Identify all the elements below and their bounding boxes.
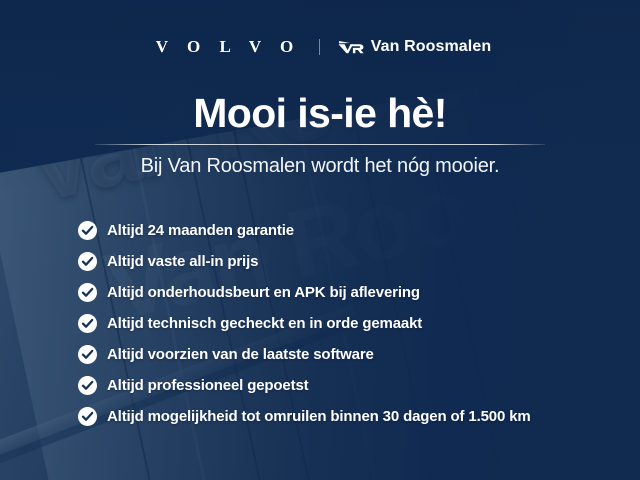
list-item: Altijd mogelijkheid tot omruilen binnen …: [78, 401, 618, 432]
page-subtitle: Bij Van Roosmalen wordt het nóg mooier.: [0, 155, 640, 178]
usp-label: Altijd professioneel gepoetst: [107, 378, 309, 393]
check-circle-icon: [78, 407, 97, 426]
brand-separator: [319, 39, 320, 55]
check-circle-icon: [78, 221, 97, 240]
usp-label: Altijd onderhoudsbeurt en APK bij afleve…: [107, 285, 420, 300]
usp-list: Altijd 24 maanden garantie Altijd vaste …: [78, 215, 618, 432]
usp-label: Altijd 24 maanden garantie: [107, 223, 294, 238]
promo-banner: Van Roosmalen Van Roosmalen V O L V O Va…: [0, 0, 640, 480]
list-item: Altijd 24 maanden garantie: [78, 215, 618, 246]
dealer-logo: Van Roosmalen: [338, 39, 491, 55]
divider-rule: [95, 144, 545, 145]
list-item: Altijd voorzien van de laatste software: [78, 339, 618, 370]
check-circle-icon: [78, 376, 97, 395]
check-circle-icon: [78, 314, 97, 333]
list-item: Altijd professioneel gepoetst: [78, 370, 618, 401]
list-item: Altijd technisch gecheckt en in orde gem…: [78, 308, 618, 339]
check-circle-icon: [78, 345, 97, 364]
list-item: Altijd vaste all-in prijs: [78, 246, 618, 277]
list-item: Altijd onderhoudsbeurt en APK bij afleve…: [78, 277, 618, 308]
usp-label: Altijd mogelijkheid tot omruilen binnen …: [107, 409, 531, 424]
vr-monogram-icon: [338, 40, 364, 54]
volvo-wordmark: V O L V O: [149, 38, 301, 55]
usp-label: Altijd voorzien van de laatste software: [107, 347, 374, 362]
check-circle-icon: [78, 283, 97, 302]
usp-label: Altijd technisch gecheckt en in orde gem…: [107, 316, 422, 331]
check-circle-icon: [78, 252, 97, 271]
page-title: Mooi is-ie hè!: [0, 92, 640, 135]
brand-logo-bar: V O L V O Van Roosmalen: [0, 38, 640, 55]
dealer-name: Van Roosmalen: [371, 39, 491, 55]
usp-label: Altijd vaste all-in prijs: [107, 254, 258, 269]
